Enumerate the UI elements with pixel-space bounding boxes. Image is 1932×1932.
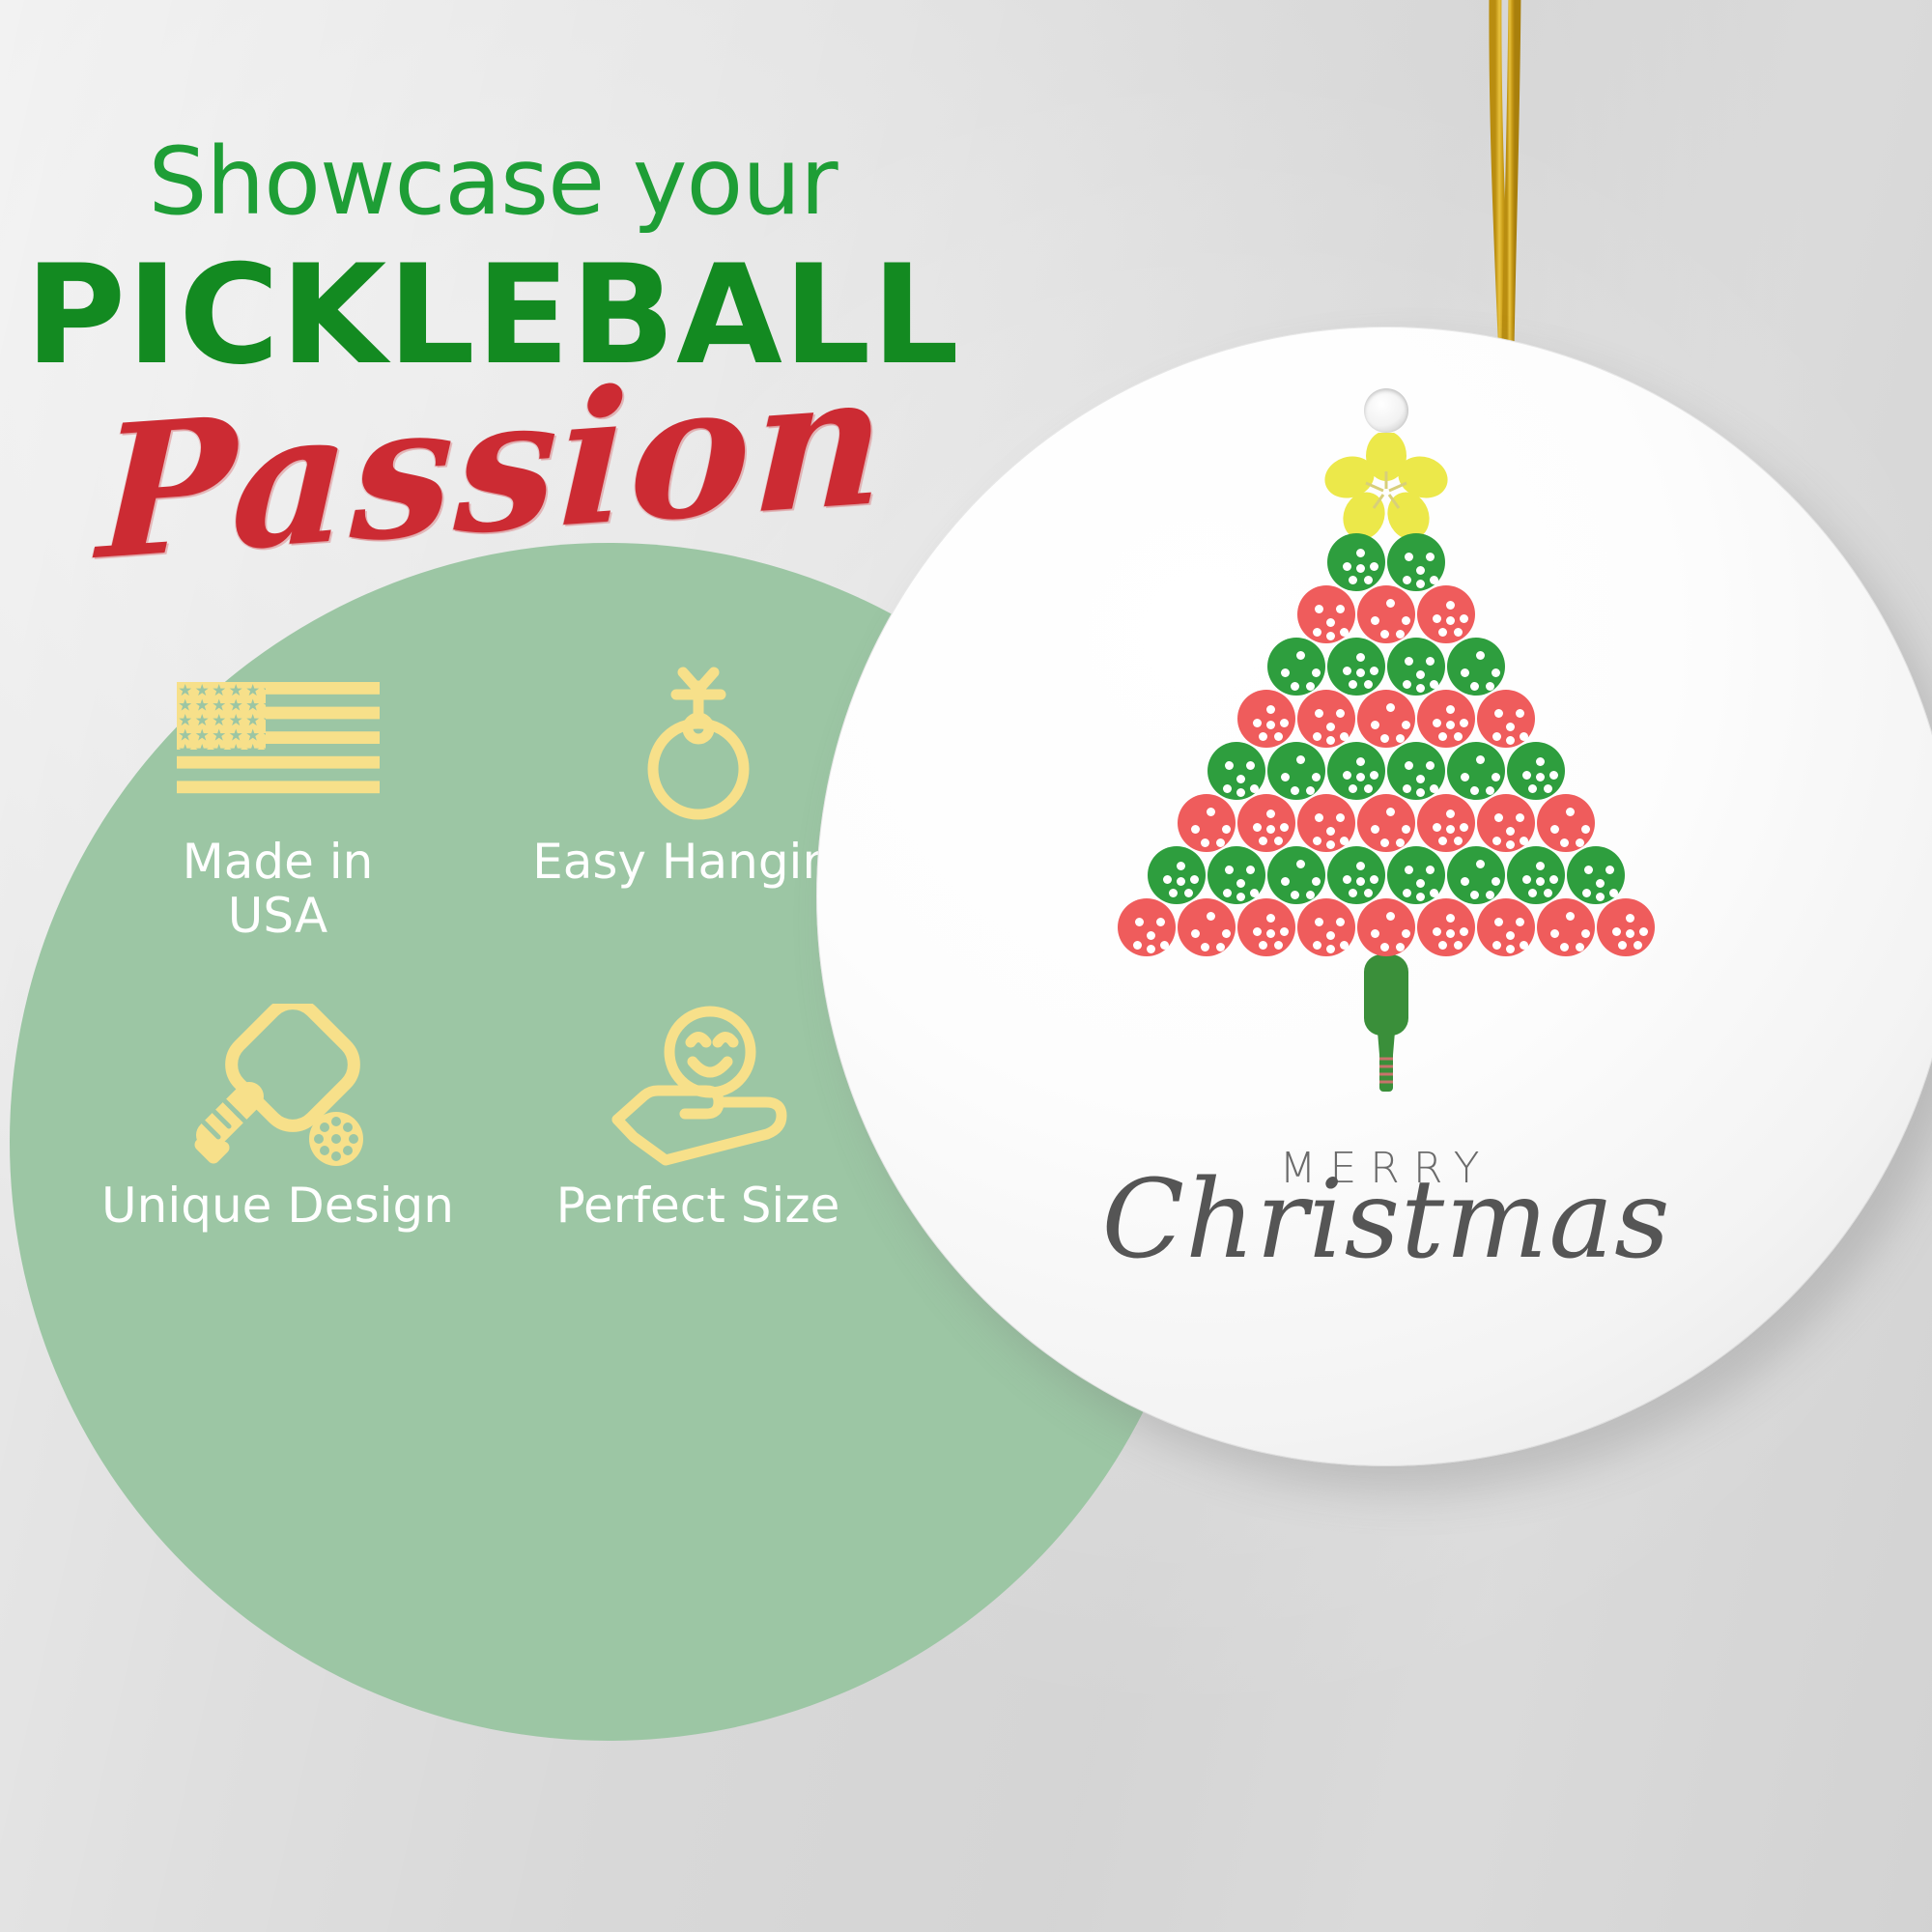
pickleball-hole [1266, 721, 1275, 729]
pickleball-green [1507, 742, 1565, 800]
pickleball-hole [1522, 771, 1531, 780]
pickleball-hole [1566, 808, 1575, 816]
pickleball-hole [1343, 667, 1351, 675]
pickleball-hole [1612, 927, 1621, 936]
pickleball-hole [1315, 918, 1323, 926]
pickleball-hole [1476, 651, 1485, 660]
pickleball-hole [1380, 630, 1389, 639]
pickleball-red [1477, 794, 1535, 852]
tree-ball-row [816, 585, 1932, 643]
pickleball-green [1387, 846, 1445, 904]
ornament-hanging-hole [1364, 388, 1408, 433]
pickleball-hole [1461, 877, 1469, 886]
feature-grid: Made in USA Easy Hanging [87, 667, 889, 1233]
tree-ball-row [816, 846, 1932, 904]
pickleball-hole [1326, 736, 1335, 745]
pickleball-hole [1576, 943, 1584, 952]
pickleball-hole [1201, 838, 1209, 847]
pickleball-hole [1430, 784, 1438, 793]
pickleball-hole [1506, 840, 1515, 849]
pickleball-hole [1396, 838, 1405, 847]
pickleball-hole [1446, 825, 1455, 834]
feature-unique-design: Unique Design [87, 1010, 469, 1233]
pickleball-hole [1356, 653, 1365, 662]
pickleball-hole [1386, 912, 1395, 921]
pickleball-hole [1618, 941, 1627, 950]
pickleball-green [1447, 846, 1505, 904]
pickleball-hole [1364, 889, 1373, 897]
pickleball-hole [1184, 889, 1193, 897]
pickleball-hole [1494, 918, 1503, 926]
flower-topper-icon [816, 433, 1932, 539]
pickleball-hole [1370, 562, 1378, 571]
pickleball-hole [1446, 721, 1455, 729]
pickleball-hole [1356, 877, 1365, 886]
pickleball-green [1327, 638, 1385, 696]
pickleball-red [1357, 794, 1415, 852]
pickleball-hole [1281, 773, 1290, 781]
pickleball-hole [1246, 761, 1255, 770]
pickleball-hole [1236, 788, 1245, 797]
pickleball-hole [1560, 943, 1569, 952]
pickleball-hole [1403, 784, 1411, 793]
pickleball-hole [1253, 719, 1262, 727]
pickleball-hole [1315, 605, 1323, 613]
pickleball-hole [1402, 616, 1410, 625]
pickleball-hole [1460, 614, 1468, 623]
pickleball-hole [1274, 941, 1283, 950]
pickleball-hole [1223, 784, 1232, 793]
usa-flag-icon [177, 667, 380, 821]
pickleball-hole [1371, 616, 1379, 625]
pickleball-hole [1470, 891, 1479, 899]
pickleball-hole [1433, 823, 1441, 832]
pickleball-hole [1581, 929, 1590, 938]
pickleball-hole [1426, 866, 1435, 874]
pickleball-hole [1476, 755, 1485, 764]
pickleball-hole [1584, 866, 1593, 874]
pickleball-hole [1356, 549, 1365, 557]
pickleball-hole [1516, 813, 1524, 822]
pickleball-red [1118, 898, 1176, 956]
pickleball-hole [1343, 562, 1351, 571]
pickleball-paddle-icon [182, 1010, 375, 1165]
hand-smiley-icon [602, 1010, 795, 1165]
pickleball-red [1477, 690, 1535, 748]
pickleball-green [1148, 846, 1206, 904]
pickleball-red [1237, 898, 1295, 956]
pickleball-hole [1291, 786, 1299, 795]
pickleball-red [1417, 585, 1475, 643]
pickleball-hole [1609, 889, 1618, 897]
pickleball-hole [1560, 838, 1569, 847]
pickleball-hole [1313, 837, 1321, 845]
pickleball-red [1537, 898, 1595, 956]
pickleball-red [1357, 690, 1415, 748]
pickleball-hole [1340, 628, 1349, 637]
pickleball-hole [1486, 786, 1494, 795]
pickleball-red [1357, 585, 1415, 643]
pickleball-hole [1253, 927, 1262, 936]
pickleball-hole [1492, 941, 1501, 950]
pickleball-hole [1566, 912, 1575, 921]
pickleball-red [1178, 794, 1236, 852]
pickleball-hole [1438, 941, 1447, 950]
pickleball-hole [1460, 823, 1468, 832]
pickleball-hole [1356, 564, 1365, 573]
pickleball-hole [1470, 682, 1479, 691]
pickleball-hole [1201, 943, 1209, 952]
pickleball-hole [1191, 929, 1200, 938]
pickleball-green [1267, 846, 1325, 904]
pickleball-hole [1492, 837, 1501, 845]
pickleball-hole [1416, 670, 1425, 679]
ornament-product: MERRY Christmas [816, 327, 1932, 1466]
pickleball-hole [1454, 732, 1463, 741]
pickleball-hole [1364, 680, 1373, 689]
pickleball-hole [1402, 825, 1410, 834]
pickleball-hole [1370, 771, 1378, 780]
pickleball-hole [1326, 945, 1335, 953]
greeting-christmas: Christmas [816, 1172, 1932, 1269]
pickleball-green [1267, 638, 1325, 696]
pickleball-hole [1506, 723, 1515, 731]
pickleball-hole [1326, 632, 1335, 640]
pickleball-hole [1281, 877, 1290, 886]
pickleball-hole [1536, 877, 1545, 886]
pickleball-hole [1516, 918, 1524, 926]
pickleball-hole [1461, 773, 1469, 781]
pickleball-hole [1639, 927, 1648, 936]
tree-ball-row [816, 794, 1932, 852]
pickleball-hole [1147, 945, 1155, 953]
pickleball-hole [1528, 784, 1537, 793]
pickleball-hole [1522, 875, 1531, 884]
pickleball-hole [1280, 823, 1289, 832]
pickleball-green [1447, 638, 1505, 696]
feature-label-line-1: Made in [183, 834, 374, 890]
pickleball-hole [1416, 580, 1425, 588]
pickleball-hole [1426, 657, 1435, 666]
pickleball-hole [1596, 879, 1605, 888]
pickleball-hole [1250, 784, 1259, 793]
pickleball-hole [1364, 784, 1373, 793]
pickleball-hole [1343, 771, 1351, 780]
pickleball-red [1297, 794, 1355, 852]
tree-ball-row [816, 742, 1932, 800]
pickleball-hole [1236, 775, 1245, 783]
pickleball-hole [1326, 723, 1335, 731]
pickleball-hole [1216, 838, 1225, 847]
feature-label-unique-design: Unique Design [101, 1179, 454, 1233]
pickleball-hole [1550, 825, 1559, 834]
tree-ball-rows [816, 533, 1932, 956]
pickleball-hole [1306, 682, 1315, 691]
pickleball-hole [1426, 761, 1435, 770]
pickleball-hole [1147, 931, 1155, 940]
pickleball-hole [1380, 943, 1389, 952]
pickleball-hole [1266, 914, 1275, 923]
pickleball-hole [1274, 732, 1283, 741]
pickleball-hole [1336, 605, 1345, 613]
pickleball-hole [1596, 893, 1605, 901]
pickleball-hole [1402, 929, 1410, 938]
pickleball-hole [1291, 682, 1299, 691]
pickleball-hole [1326, 618, 1335, 627]
pickleball-hole [1396, 630, 1405, 639]
pickleball-hole [1326, 827, 1335, 836]
pickleball-red [1237, 690, 1295, 748]
pickleball-hole [1371, 929, 1379, 938]
tree-ball-row [816, 533, 1932, 591]
pickleball-hole [1461, 668, 1469, 677]
pickleball-hole [1259, 941, 1267, 950]
pickleball-hole [1446, 810, 1455, 818]
pickleball-hole [1460, 927, 1468, 936]
feature-label-line-2: USA [228, 888, 327, 944]
pickleball-hole [1486, 682, 1494, 691]
pickleball-hole [1582, 889, 1591, 897]
pickleball-hole [1371, 721, 1379, 729]
pickleball-hole [1396, 734, 1405, 743]
pickleball-hole [1438, 732, 1447, 741]
pickleball-red [1537, 794, 1595, 852]
pickleball-hole [1416, 879, 1425, 888]
pickleball-hole [1207, 808, 1215, 816]
pickleball-hole [1520, 941, 1528, 950]
pickleball-hole [1259, 732, 1267, 741]
pickleball-hole [1266, 825, 1275, 834]
pickleball-hole [1281, 668, 1290, 677]
pickleball-red [1357, 898, 1415, 956]
pickleball-hole [1470, 786, 1479, 795]
pickleball-hole [1506, 736, 1515, 745]
pickleball-hole [1486, 891, 1494, 899]
pickleball-hole [1460, 719, 1468, 727]
headline-line-showcase: Showcase your [0, 135, 985, 228]
pickleball-hole [1506, 931, 1515, 940]
pickleball-hole [1266, 929, 1275, 938]
pickleball-hole [1416, 893, 1425, 901]
pickleball-hole [1160, 941, 1169, 950]
pickleball-hole [1259, 837, 1267, 845]
pickleball-hole [1315, 813, 1323, 822]
pickleball-hole [1274, 837, 1283, 845]
pickleball-hole [1222, 929, 1231, 938]
pickleball-hole [1433, 927, 1441, 936]
pickleball-hole [1296, 860, 1305, 868]
pickleball-hole [1446, 929, 1455, 938]
pickleball-hole [1313, 732, 1321, 741]
pickleball-hole [1403, 576, 1411, 584]
pickleball-hole [1494, 709, 1503, 718]
pickleball-hole [1402, 721, 1410, 729]
pickleball-hole [1438, 628, 1447, 637]
pickleball-hole [1349, 576, 1357, 584]
pickleball-red [1297, 690, 1355, 748]
pickleball-green [1207, 846, 1265, 904]
tree-ball-row [816, 690, 1932, 748]
pickleball-hole [1364, 576, 1373, 584]
pickleball-hole [1446, 616, 1455, 625]
pickleball-hole [1426, 553, 1435, 561]
pickleball-green [1387, 742, 1445, 800]
pickleball-green [1327, 846, 1385, 904]
pickleball-hole [1492, 773, 1500, 781]
pickleball-hole [1476, 860, 1485, 868]
pickleball-hole [1356, 862, 1365, 870]
pickleball-hole [1236, 879, 1245, 888]
pickleball-hole [1266, 810, 1275, 818]
pickleball-hole [1370, 667, 1378, 675]
pickleball-hole [1223, 889, 1232, 897]
pickleball-green [1387, 638, 1445, 696]
pickleball-hole [1438, 837, 1447, 845]
pickleball-hole [1216, 943, 1225, 952]
tree-ball-row [816, 898, 1932, 956]
pickleball-green [1447, 742, 1505, 800]
pickleball-hole [1169, 889, 1178, 897]
pickleball-hole [1280, 927, 1289, 936]
pickleball-hole [1536, 862, 1545, 870]
pickleball-hole [1494, 813, 1503, 822]
pickleball-red [1597, 898, 1655, 956]
pickleball-hole [1506, 945, 1515, 953]
pickleball-green [1327, 742, 1385, 800]
pickleball-hole [1371, 825, 1379, 834]
pickleball-hole [1386, 599, 1395, 608]
pickleball-hole [1536, 757, 1545, 766]
pickleball-hole [1492, 668, 1500, 677]
pickleball-hole [1312, 877, 1321, 886]
pickleball-hole [1403, 680, 1411, 689]
pickleball-hole [1433, 719, 1441, 727]
pickleball-hole [1544, 784, 1552, 793]
pickleball-hole [1306, 786, 1315, 795]
pickleball-hole [1266, 705, 1275, 714]
pickleball-hole [1296, 755, 1305, 764]
pickleball-hole [1349, 784, 1357, 793]
pickleball-hole [1313, 941, 1321, 950]
pickleball-hole [1250, 889, 1259, 897]
pickleball-hole [1506, 827, 1515, 836]
pickleball-hole [1380, 838, 1389, 847]
pickleball-hole [1446, 914, 1455, 923]
pickleball-hole [1405, 553, 1413, 561]
pickleball-hole [1626, 914, 1634, 923]
pickleball-hole [1336, 813, 1345, 822]
pickleball-hole [1135, 918, 1144, 926]
pickleball-hole [1356, 757, 1365, 766]
pickleball-red [1477, 898, 1535, 956]
pickleball-hole [1336, 918, 1345, 926]
ornament-greeting: MERRY Christmas [816, 1144, 1932, 1269]
pickleball-hole [1177, 862, 1185, 870]
pickleball-hole [1326, 931, 1335, 940]
pickleball-hole [1403, 889, 1411, 897]
pickleball-hole [1454, 628, 1463, 637]
pickleball-hole [1416, 788, 1425, 797]
pickleball-hole [1225, 761, 1234, 770]
pickleball-hole [1340, 732, 1349, 741]
pickleball-hole [1536, 773, 1545, 781]
pickleball-green [1267, 742, 1325, 800]
pickleball-hole [1349, 680, 1357, 689]
pickleball-hole [1446, 705, 1455, 714]
pickleball-hole [1312, 773, 1321, 781]
pickleball-hole [1520, 837, 1528, 845]
pickleball-hole [1405, 866, 1413, 874]
pickleball-hole [1253, 823, 1262, 832]
pickleball-hole [1336, 709, 1345, 718]
pickleball-green [1567, 846, 1625, 904]
pickleball-hole [1349, 889, 1357, 897]
pickleball-green [1207, 742, 1265, 800]
feature-made-in-usa: Made in USA [87, 667, 469, 943]
pickleball-hole [1520, 732, 1528, 741]
pickleball-hole [1326, 840, 1335, 849]
pickleball-hole [1370, 875, 1378, 884]
ornament-hook-icon [626, 667, 771, 821]
pickleball-hole [1225, 866, 1234, 874]
pickleball-hole [1405, 657, 1413, 666]
pickleball-hole [1581, 825, 1590, 834]
pickleball-hole [1433, 614, 1441, 623]
pickleball-hole [1163, 875, 1172, 884]
pickleball-hole [1516, 709, 1524, 718]
paddle-trunk-icon [816, 954, 1932, 1099]
pickleball-hole [1416, 566, 1425, 575]
pickleball-hole [1430, 680, 1438, 689]
pickleball-red [1417, 898, 1475, 956]
pickleball-hole [1405, 761, 1413, 770]
pickleball-hole [1576, 838, 1584, 847]
pickleball-green [1507, 846, 1565, 904]
pickleball-hole [1356, 773, 1365, 781]
pickleball-hole [1291, 891, 1299, 899]
pickleball-red [1237, 794, 1295, 852]
pickleball-hole [1191, 825, 1200, 834]
pickleball-hole [1386, 703, 1395, 712]
pickleball-hole [1340, 941, 1349, 950]
pickleball-red [1297, 898, 1355, 956]
pickleball-hole [1454, 837, 1463, 845]
pickleball-hole [1550, 929, 1559, 938]
pickleball-hole [1492, 877, 1500, 886]
pickleball-hole [1549, 771, 1558, 780]
pickleball-hole [1296, 651, 1305, 660]
pickleball-hole [1340, 837, 1349, 845]
pickleball-hole [1446, 601, 1455, 610]
feature-label-easy-hanging: Easy Hanging [532, 835, 864, 889]
pickleball-hole [1528, 889, 1537, 897]
pickleball-hole [1396, 943, 1405, 952]
pickleball-christmas-tree [816, 433, 1932, 1099]
pickleball-hole [1380, 734, 1389, 743]
pickleball-hole [1280, 719, 1289, 727]
pickleball-green [1387, 533, 1445, 591]
pickleball-hole [1306, 891, 1315, 899]
pickleball-hole [1492, 732, 1501, 741]
pickleball-hole [1207, 912, 1215, 921]
pickleball-hole [1156, 918, 1165, 926]
pickleball-hole [1430, 576, 1438, 584]
pickleball-red [1297, 585, 1355, 643]
pickleball-hole [1430, 889, 1438, 897]
pickleball-hole [1133, 941, 1142, 950]
pickleball-hole [1634, 941, 1642, 950]
pickleball-red [1417, 690, 1475, 748]
